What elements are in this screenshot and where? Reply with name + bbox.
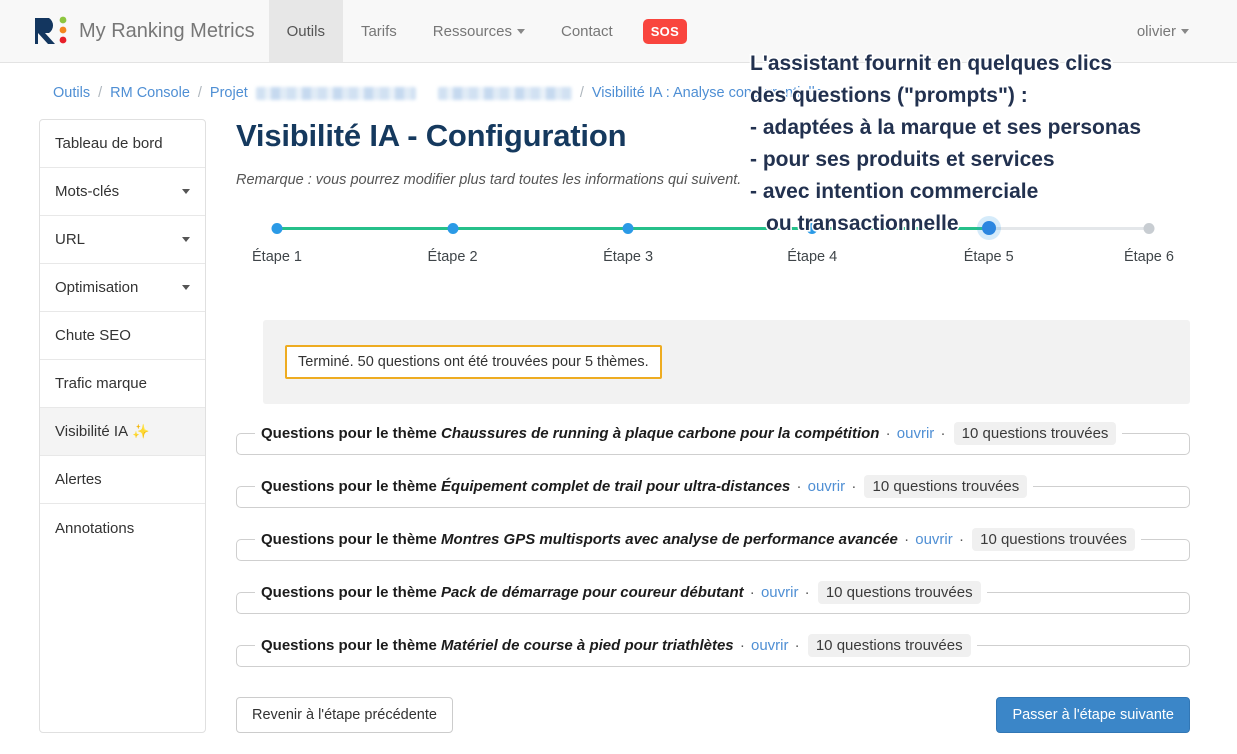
theme-legend: Questions pour le thème Chaussures de ru…: [255, 425, 1122, 442]
legend-separator: ·: [884, 425, 893, 442]
legend-separator: ·: [957, 531, 966, 548]
next-step-button[interactable]: Passer à l'étape suivante: [996, 697, 1190, 733]
status-message: Terminé. 50 questions ont été trouvées p…: [285, 345, 662, 379]
theme-name: Équipement complet de trail pour ultra-d…: [441, 478, 790, 495]
theme-fieldset: Questions pour le thème Pack de démarrag…: [236, 584, 1190, 614]
theme-count-badge: 10 questions trouvées: [808, 634, 971, 657]
legend-separator: ·: [803, 584, 812, 601]
legend-separator: ·: [748, 584, 757, 601]
step-dot-6[interactable]: [1143, 223, 1154, 234]
sidebar-item-label: URL: [55, 231, 85, 248]
main-content: Visibilité IA - Configuration Remarque :…: [206, 119, 1237, 733]
theme-open-link[interactable]: ouvrir: [761, 584, 799, 601]
sidebar-item-label: Visibilité IA: [55, 423, 128, 440]
step-dot-5[interactable]: [982, 221, 996, 235]
theme-legend: Questions pour le thème Montres GPS mult…: [255, 531, 1141, 548]
step-dots: [236, 221, 1190, 235]
sidebar-item-mots-cles[interactable]: Mots-clés: [40, 168, 205, 216]
breadcrumb-item-projet[interactable]: Projet: [210, 85, 248, 101]
breadcrumb-item-rm-console[interactable]: RM Console: [110, 85, 190, 101]
navbar-right-group: olivier: [1119, 0, 1237, 62]
chevron-down-icon: [517, 29, 525, 34]
sidebar-item-optimisation[interactable]: Optimisation: [40, 264, 205, 312]
theme-legend-prefix: Questions pour le thème: [261, 584, 437, 601]
step-label-2: Étape 2: [428, 249, 478, 265]
status-panel: Terminé. 50 questions ont été trouvées p…: [263, 320, 1190, 404]
breadcrumb-redacted-project-domain: [438, 87, 572, 100]
footer-actions: Revenir à l'étape précédente Passer à l'…: [236, 697, 1190, 733]
theme-name: Pack de démarrage pour coureur débutant: [441, 584, 744, 601]
nav-item-label: Ressources: [433, 23, 512, 40]
theme-open-link[interactable]: ouvrir: [808, 478, 846, 495]
nav-item-label: Tarifs: [361, 23, 397, 40]
theme-name: Montres GPS multisports avec analyse de …: [441, 531, 898, 548]
nav-item-label: Outils: [287, 23, 325, 40]
sidebar-item-annotations[interactable]: Annotations: [40, 504, 205, 552]
sidebar-item-label: Optimisation: [55, 279, 138, 296]
step-labels: Étape 1 Étape 2 Étape 3 Étape 4 Étape 5 …: [236, 249, 1190, 271]
step-dot-3[interactable]: [623, 223, 634, 234]
page-layout: Tableau de bord Mots-clés URL Optimisati…: [0, 101, 1237, 733]
nav-item-ressources[interactable]: Ressources: [415, 0, 543, 62]
navbar-sos-wrapper: SOS: [631, 0, 699, 62]
theme-legend-prefix: Questions pour le thème: [261, 637, 437, 654]
sidebar-item-label: Annotations: [55, 520, 134, 537]
theme-fieldset: Questions pour le thème Matériel de cour…: [236, 637, 1190, 667]
theme-legend: Questions pour le thème Pack de démarrag…: [255, 584, 987, 601]
user-menu[interactable]: olivier: [1119, 23, 1207, 40]
theme-fieldset: Questions pour le thème Montres GPS mult…: [236, 531, 1190, 561]
legend-separator: ·: [794, 478, 803, 495]
legend-separator: ·: [738, 637, 747, 654]
theme-count-badge: 10 questions trouvées: [864, 475, 1027, 498]
nav-item-outils[interactable]: Outils: [269, 0, 343, 62]
theme-count-badge: 10 questions trouvées: [818, 581, 981, 604]
sidebar: Tableau de bord Mots-clés URL Optimisati…: [39, 119, 206, 733]
sidebar-item-label: Chute SEO: [55, 327, 131, 344]
theme-fieldset: Questions pour le thème Chaussures de ru…: [236, 425, 1190, 455]
sidebar-item-url[interactable]: URL: [40, 216, 205, 264]
user-menu-label: olivier: [1137, 23, 1176, 40]
breadcrumb-separator: /: [198, 85, 202, 101]
theme-legend-prefix: Questions pour le thème: [261, 425, 437, 442]
theme-count-badge: 10 questions trouvées: [972, 528, 1135, 551]
chevron-down-icon: [182, 237, 190, 242]
legend-separator: ·: [793, 637, 802, 654]
nav-item-label: Contact: [561, 23, 613, 40]
chevron-down-icon: [182, 189, 190, 194]
page-remark: Remarque : vous pourrez modifier plus ta…: [236, 172, 1190, 188]
theme-name: Matériel de course à pied pour triathlèt…: [441, 637, 734, 654]
theme-legend-prefix: Questions pour le thème: [261, 478, 437, 495]
breadcrumb-separator: /: [98, 85, 102, 101]
theme-fieldset: Questions pour le thème Équipement compl…: [236, 478, 1190, 508]
theme-open-link[interactable]: ouvrir: [897, 425, 935, 442]
rm-logo-icon: [33, 14, 69, 48]
step-label-1: Étape 1: [252, 249, 302, 265]
sidebar-item-label-wrap: Visibilité IA✨: [55, 423, 150, 440]
sidebar-item-label: Trafic marque: [55, 375, 147, 392]
legend-separator: ·: [938, 425, 947, 442]
theme-open-link[interactable]: ouvrir: [751, 637, 789, 654]
brand-home-link[interactable]: My Ranking Metrics: [0, 0, 269, 62]
theme-list: Questions pour le thème Chaussures de ru…: [236, 425, 1190, 667]
breadcrumb-item-visibilite-ia[interactable]: Visibilité IA : Analyse concurrentielle: [592, 85, 823, 101]
sidebar-item-alertes[interactable]: Alertes: [40, 456, 205, 504]
sparkles-icon: ✨: [132, 423, 149, 439]
step-label-5: Étape 5: [964, 249, 1014, 265]
nav-item-contact[interactable]: Contact: [543, 0, 631, 62]
step-dot-4[interactable]: [807, 223, 818, 234]
sidebar-item-label: Mots-clés: [55, 183, 119, 200]
step-track: [236, 221, 1190, 235]
sidebar-item-visibilite-ia[interactable]: Visibilité IA✨: [40, 408, 205, 456]
breadcrumb-item-outils[interactable]: Outils: [53, 85, 90, 101]
theme-open-link[interactable]: ouvrir: [915, 531, 953, 548]
step-dot-1[interactable]: [272, 223, 283, 234]
chevron-down-icon: [182, 285, 190, 290]
legend-separator: ·: [849, 478, 858, 495]
step-label-3: Étape 3: [603, 249, 653, 265]
step-dot-2[interactable]: [447, 223, 458, 234]
sidebar-item-tableau-de-bord[interactable]: Tableau de bord: [40, 120, 205, 168]
step-label-4: Étape 4: [787, 249, 837, 265]
theme-legend-prefix: Questions pour le thème: [261, 531, 437, 548]
sidebar-item-trafic-marque[interactable]: Trafic marque: [40, 360, 205, 408]
theme-name: Chaussures de running à plaque carbone p…: [441, 425, 879, 442]
theme-count-badge: 10 questions trouvées: [954, 422, 1117, 445]
navbar-left-group: My Ranking Metrics Outils Tarifs Ressour…: [0, 0, 699, 62]
breadcrumb-redacted-project-name: [256, 87, 416, 100]
sidebar-item-label: Alertes: [55, 471, 102, 488]
sos-button[interactable]: SOS: [643, 19, 687, 44]
previous-step-button[interactable]: Revenir à l'étape précédente: [236, 697, 453, 733]
nav-item-tarifs[interactable]: Tarifs: [343, 0, 415, 62]
theme-legend: Questions pour le thème Équipement compl…: [255, 478, 1033, 495]
breadcrumb-separator: /: [580, 85, 584, 101]
top-navbar: My Ranking Metrics Outils Tarifs Ressour…: [0, 0, 1237, 63]
theme-legend: Questions pour le thème Matériel de cour…: [255, 637, 977, 654]
step-label-6: Étape 6: [1124, 249, 1174, 265]
sidebar-item-chute-seo[interactable]: Chute SEO: [40, 312, 205, 360]
chevron-down-icon: [1181, 29, 1189, 34]
breadcrumb: Outils / RM Console / Projet / Visibilit…: [0, 63, 1237, 101]
legend-separator: ·: [902, 531, 911, 548]
brand-name: My Ranking Metrics: [79, 20, 255, 43]
sidebar-item-label: Tableau de bord: [55, 135, 163, 152]
page-title: Visibilité IA - Configuration: [236, 119, 1190, 153]
step-progress: Étape 1 Étape 2 Étape 3 Étape 4 Étape 5 …: [236, 221, 1190, 273]
